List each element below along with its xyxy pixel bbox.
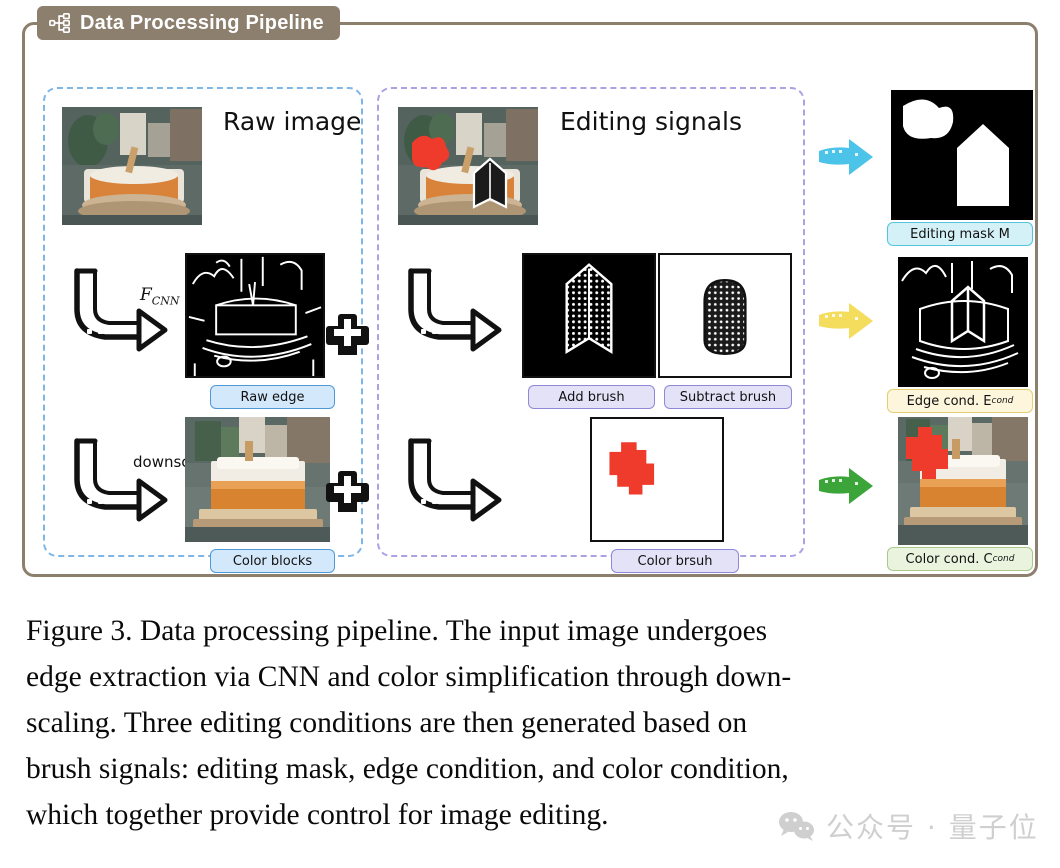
wechat-watermark-text: 公众号 · 量子位 <box>826 806 1039 846</box>
color-condition-label: Color cond. Ccond <box>887 547 1033 571</box>
caption-line-4: brush signals: editing mask, edge condit… <box>26 746 1034 792</box>
color-brush-tile <box>590 417 724 542</box>
fcnn-arrow <box>65 263 173 355</box>
edge-condition-arrow <box>815 297 877 352</box>
sitemap-icon <box>49 12 71 34</box>
edge-condition-tile <box>898 257 1028 387</box>
brushed-cake-photo <box>398 107 538 225</box>
color-condition-label-sub: cond <box>993 554 1015 564</box>
panel-title-text: Data Processing Pipeline <box>80 12 324 35</box>
editing-mask-arrow <box>815 133 877 188</box>
fcnn-label-base: F <box>140 285 152 305</box>
figure-panel: Data Processing Pipeline Raw image <box>22 22 1038 577</box>
fcnn-label-sub: CNN <box>152 294 180 307</box>
panel-title-bar: Data Processing Pipeline <box>37 6 340 40</box>
raw-image-group-title: Raw image <box>223 107 361 136</box>
raw-edge-tile <box>185 253 325 378</box>
edge-condition-label-sub: cond <box>992 396 1014 406</box>
color-blocks-label: Color blocks <box>210 549 335 573</box>
raw-cake-photo <box>62 107 202 225</box>
editing-mask-label: Editing mask M <box>887 222 1033 246</box>
editing-mask-label-text: Editing mask M <box>910 227 1010 242</box>
editing-mask-tile <box>891 90 1033 220</box>
edge-condition-label-text: Edge cond. E <box>907 394 992 409</box>
caption-line-2: edge extraction via CNN and color simpli… <box>26 654 1034 700</box>
figure-caption: Figure 3. Data processing pipeline. The … <box>26 608 1034 838</box>
downscale-arrow <box>65 433 173 525</box>
wechat-icon <box>778 811 816 841</box>
plus-icon-2 <box>325 467 370 517</box>
caption-line-1: Figure 3. Data processing pipeline. The … <box>26 608 1034 654</box>
add-brush-label: Add brush <box>528 385 655 409</box>
editing-signals-group-title: Editing signals <box>560 107 742 136</box>
color-blocks-tile <box>185 417 330 542</box>
add-brush-tile <box>522 253 656 378</box>
fcnn-arrow-label: FCNN <box>140 285 179 307</box>
caption-line-3: scaling. Three editing conditions are th… <box>26 700 1034 746</box>
edge-condition-label: Edge cond. Econd <box>887 389 1033 413</box>
subtract-brush-tile <box>658 253 792 378</box>
wechat-watermark: 公众号 · 量子位 <box>778 806 1039 846</box>
subtract-brush-label: Subtract brush <box>664 385 792 409</box>
sketch-arrow-1 <box>399 263 507 355</box>
figure-screenshot: Data Processing Pipeline Raw image <box>0 0 1060 868</box>
raw-edge-label: Raw edge <box>210 385 335 409</box>
color-condition-label-text: Color cond. C <box>906 552 993 567</box>
color-condition-arrow <box>815 462 877 517</box>
color-condition-tile <box>898 417 1028 545</box>
color-brush-label: Color brsuh <box>611 549 739 573</box>
plus-icon-1 <box>325 310 370 360</box>
sketch-arrow-2 <box>399 433 507 525</box>
